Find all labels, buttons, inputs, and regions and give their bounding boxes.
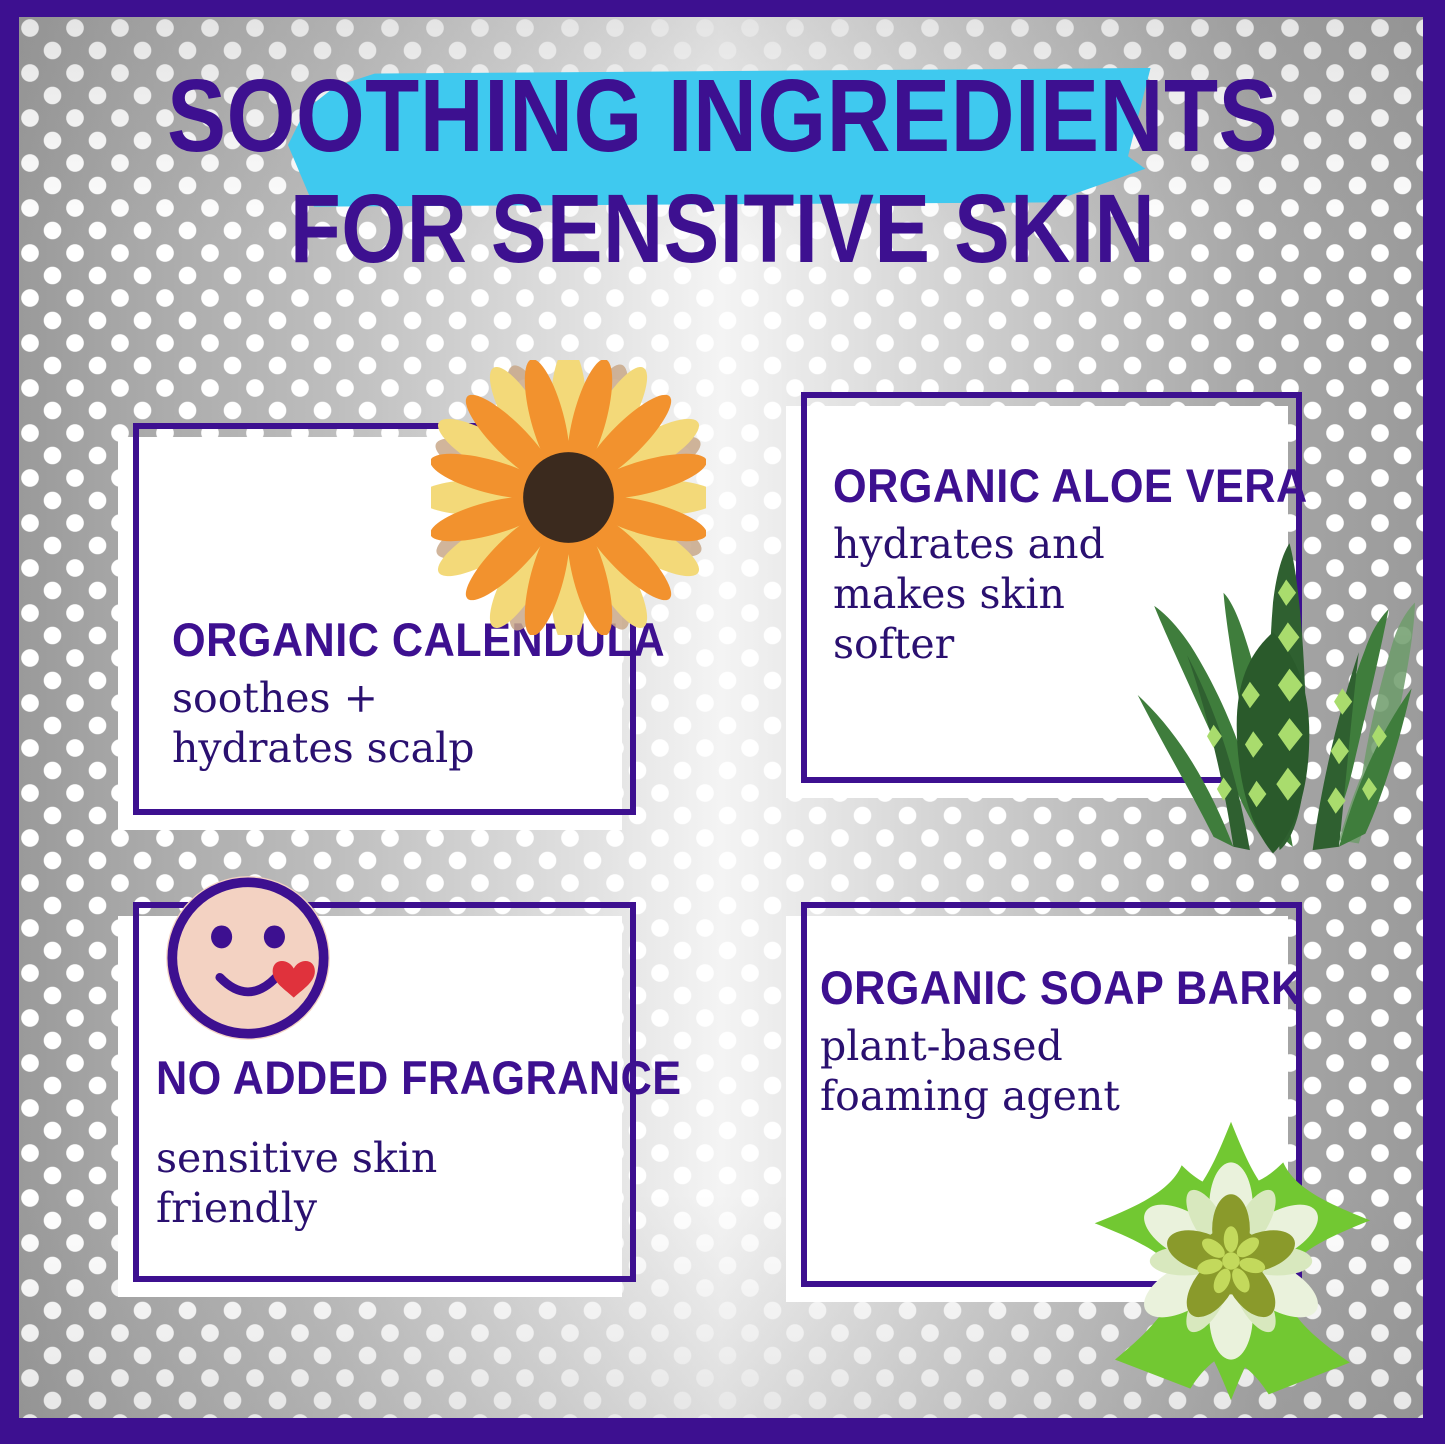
infographic-poster: SOOTHING INGREDIENTS FOR SENSITIVE SKIN …: [0, 0, 1445, 1444]
card-aloe-vera-body: hydrates and makes skin softer: [833, 519, 1253, 669]
card-no-added-fragrance-text: NO ADDED FRAGRANCE sensitive skin friend…: [156, 1050, 626, 1233]
card-calendula-text: ORGANIC CALENDULA soothes + hydrates sca…: [172, 612, 642, 773]
card-no-added-fragrance-heading: NO ADDED FRAGRANCE: [156, 1050, 588, 1105]
card-aloe-vera-heading: ORGANIC ALOE VERA: [833, 458, 1219, 513]
card-no-added-fragrance-body-line-2: friendly: [156, 1183, 626, 1233]
card-calendula-body: soothes + hydrates scalp: [172, 673, 642, 773]
card-aloe-vera-body-line-1: hydrates and: [833, 519, 1253, 569]
card-aloe-vera-body-line-3: softer: [833, 619, 1253, 669]
card-soap-bark-text: ORGANIC SOAP BARK plant-based foaming ag…: [820, 960, 1250, 1121]
card-calendula-body-line-1: soothes +: [172, 673, 642, 723]
card-soap-bark-body: plant-based foaming agent: [820, 1021, 1250, 1121]
card-no-added-fragrance-body: sensitive skin friendly: [156, 1133, 626, 1233]
card-calendula-heading: ORGANIC CALENDULA: [172, 612, 604, 667]
card-aloe-vera-body-line-2: makes skin: [833, 569, 1253, 619]
card-soap-bark-body-line-1: plant-based: [820, 1021, 1250, 1071]
card-soap-bark-body-line-2: foaming agent: [820, 1071, 1250, 1121]
card-calendula-body-line-2: hydrates scalp: [172, 723, 642, 773]
card-aloe-vera-text: ORGANIC ALOE VERA hydrates and makes ski…: [833, 458, 1253, 669]
card-no-added-fragrance-body-line-1: sensitive skin: [156, 1133, 626, 1183]
title-line-1: SOOTHING INGREDIENTS: [101, 66, 1344, 167]
title-line-2: FOR SENSITIVE SKIN: [101, 181, 1344, 276]
card-soap-bark-heading: ORGANIC SOAP BARK: [820, 960, 1216, 1015]
poster-title-block: SOOTHING INGREDIENTS FOR SENSITIVE SKIN: [0, 52, 1445, 248]
